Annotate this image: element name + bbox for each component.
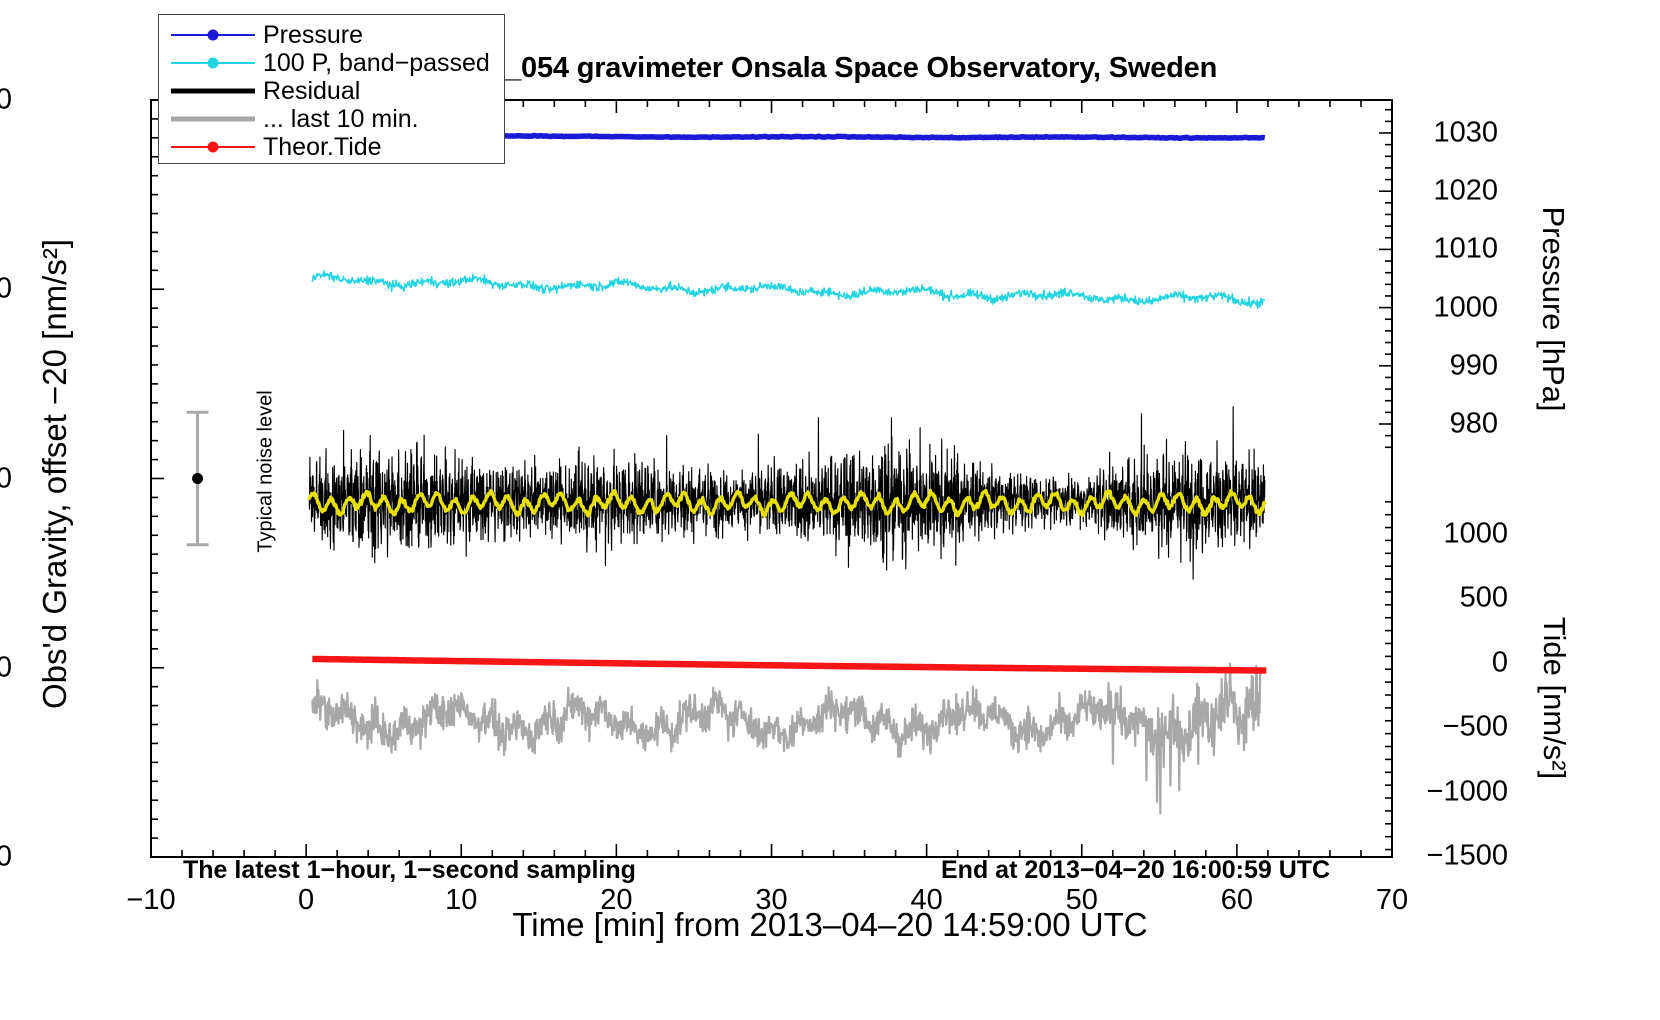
x-tick-2: 10	[401, 884, 521, 917]
legend-item-3[interactable]: ... last 10 min.	[167, 105, 504, 133]
x-tick-5: 40	[867, 884, 987, 917]
legend-label: Theor.Tide	[259, 133, 382, 162]
legend-label: Residual	[259, 77, 360, 106]
x-tick-1: 0	[246, 884, 366, 917]
legend-item-0[interactable]: Pressure	[167, 21, 504, 49]
legend[interactable]: Pressure100 P, band−passedResidual... la…	[158, 14, 505, 164]
legend-swatch-icon	[167, 136, 259, 158]
legend-swatch-icon	[167, 108, 259, 130]
x-tick-6: 50	[1022, 884, 1142, 917]
x-tick-4: 30	[712, 884, 832, 917]
legend-item-1[interactable]: 100 P, band−passed	[167, 49, 504, 77]
x-tick-8: 70	[1332, 884, 1452, 917]
legend-item-4[interactable]: Theor.Tide	[167, 133, 504, 161]
legend-label: Pressure	[259, 21, 363, 50]
legend-item-2[interactable]: Residual	[167, 77, 504, 105]
end-time-note: End at 2013−04−20 16:00:59 UTC	[941, 856, 1330, 885]
legend-swatch-icon	[167, 80, 259, 102]
x-tick-3: 20	[556, 884, 676, 917]
legend-label: ... last 10 min.	[259, 105, 419, 134]
x-tick-0: −10	[91, 884, 211, 917]
legend-swatch-icon	[167, 24, 259, 46]
legend-swatch-icon	[167, 52, 259, 74]
x-tick-7: 60	[1177, 884, 1297, 917]
legend-label: 100 P, band−passed	[259, 49, 490, 78]
typical-noise-level-label: Typical noise level	[255, 342, 278, 602]
sampling-note: The latest 1−hour, 1−second sampling	[183, 856, 636, 885]
